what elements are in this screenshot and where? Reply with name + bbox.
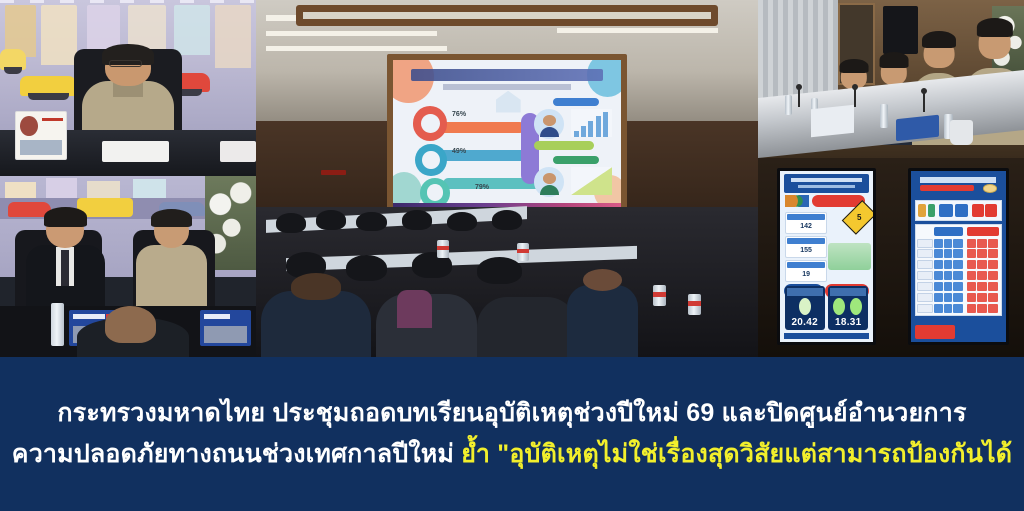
cell-injured [934,239,943,248]
legend-swatch [985,204,997,217]
caption-line-2: ความปลอดภัยทางถนนช่วงเทศกาลปีใหม่ ย้ำ "อ… [0,441,1024,469]
clock-dot-icon [833,298,845,315]
official-hair [839,59,868,73]
cell-injured [934,271,943,280]
audience-head [356,212,386,231]
cell-injured [944,239,953,248]
stat-value-49: 49% [452,148,466,155]
legend-swatch [918,204,926,217]
digital-signage-display [908,168,1009,345]
backdrop-building [174,5,210,54]
caption-line-2-white: ความปลอดภัยทางถนนช่วงเทศกาลปีใหม่ [12,440,454,468]
name-placard [220,141,256,162]
cell-injured [944,271,953,280]
stat-donut-49 [415,144,447,177]
cell-dead [988,282,998,291]
cell-dead [967,304,976,313]
cell-injured [953,239,963,248]
summary-title-block [920,177,997,183]
stats-subtitle-block [798,185,856,188]
cell-dead [967,293,976,302]
summary-table [915,224,1002,316]
audience-shoulders [477,297,577,357]
stat-row-value: 142 [786,220,827,232]
water-bottle [880,104,888,128]
audience-head [447,212,477,231]
audience-head [346,255,386,280]
footer-left-badge [915,325,955,339]
stat-row-accidents: 142 [785,212,828,234]
audience-head [477,257,522,284]
photo-accident-stats-kiosk: 142 155 19 5 [758,158,895,357]
stats-screen: 142 155 19 5 [780,171,873,342]
cell-dead [988,249,998,258]
photo-collage: 76% 49% 79% [0,0,1024,357]
avatar-worker [534,109,564,139]
campaign-standee [15,111,66,160]
presentation-screen: 76% 49% 79% [393,60,622,216]
foreground-person-head [105,306,156,342]
cell-dead [988,239,998,248]
warning-sign-value: 5 [850,204,868,231]
cell-dead [967,249,976,258]
microphone-icon [854,88,856,107]
microphone-icon [923,92,925,113]
water-bottle [517,243,529,261]
name-placard [102,141,169,162]
row-label [917,260,932,269]
stat-row-value: 19 [786,268,827,280]
row-label [917,239,932,248]
time-box-2: 18.31 [828,286,868,330]
backdrop-building [215,5,251,68]
audience-head [316,210,346,229]
row-label [917,249,932,258]
microphone-icon [798,88,800,107]
audience-head [492,210,522,229]
audience-shoulders [261,291,371,357]
ceiling-light [266,46,447,51]
home-icon [496,91,521,113]
official-hair [44,207,88,227]
summary-screen-header [915,174,1002,196]
cell-dead [988,293,998,302]
footer-right-badge [956,325,1001,339]
column-header-dead [967,227,999,236]
summary-legend [915,200,1002,221]
cell-dead [977,271,987,280]
tea-pot [950,120,974,145]
stat-row-dead: 19 [785,260,828,282]
presenter-standing [397,290,432,329]
news-collage-card: 76% 49% 79% [0,0,1024,511]
legend-swatch [939,204,953,217]
emblem-icon [20,116,38,136]
cell-dead [988,260,998,269]
presentation-screen-frame: 76% 49% 79% [387,54,628,222]
mini-chart-bar [571,109,612,137]
cell-dead [988,304,998,313]
row-label [917,304,932,313]
card-title-block [204,314,231,320]
cell-dead [977,239,987,248]
cell-injured [953,260,963,269]
water-bottle [785,95,792,116]
row-label [917,271,932,280]
stat-row-value: 155 [786,244,827,256]
cell-injured [934,260,943,269]
emblem-icon [983,184,997,192]
audience-head [291,273,341,300]
cell-injured [934,249,943,258]
speaker-glasses [109,60,142,67]
stat-value-79: 79% [475,184,489,191]
caption-line-2-highlight: ย้ำ "อุบัติเหตุไม่ใช่เรื่องสุดวิสัยแต่สา… [461,440,1012,468]
stat-value-76: 76% [452,111,466,118]
cell-injured [944,293,953,302]
cell-injured [934,282,943,291]
official-hair [922,31,956,49]
legend-swatch [928,204,936,217]
stats-screen-header [784,174,869,193]
cell-injured [934,293,943,302]
cell-injured [944,249,953,258]
standee-photo [20,140,61,155]
official-hair [879,52,908,67]
photo-press-conference-speaker [0,0,256,176]
slide-subtitle-bar [443,84,571,89]
time-range-label [830,288,866,296]
legend-swatch [972,204,984,217]
row-label [917,282,932,291]
cell-injured [944,282,953,291]
cell-injured [953,271,963,280]
legend-swatch [955,204,969,217]
official-uniform [136,245,208,314]
audience-head [402,210,432,229]
cell-injured [953,282,963,291]
photo-officials-seated [0,176,256,357]
cell-injured [953,249,963,258]
document-folder [896,115,939,142]
cell-dead [967,271,976,280]
stat-donut-76 [413,106,447,140]
road-path-green [534,141,594,150]
cell-dead [977,282,987,291]
photo-fatality-summary-kiosk [895,158,1024,357]
audience-table [286,246,637,272]
time-box-value: 18.31 [828,317,868,328]
avatar-teen [534,167,564,197]
cell-dead [977,260,987,269]
water-bottle [688,294,701,315]
stat-row-injured: 155 [785,236,828,258]
official-hair [151,209,192,227]
water-bottle [51,303,64,346]
cell-injured [944,260,953,269]
row-label [917,293,932,302]
cell-injured [944,304,953,313]
clock-dot-icon [850,298,862,315]
stats-title-block [791,178,863,183]
cell-injured [934,304,943,313]
digital-signage-display: 142 155 19 5 [777,168,876,345]
photo-meeting-table-officials [758,0,1024,158]
card-photo [204,326,247,343]
cell-injured [953,304,963,313]
caption-line-1: กระทรวงมหาดไทย ประชุมถอดบทเรียนอุบัติเหต… [0,400,1024,428]
cell-dead [988,271,998,280]
cell-dead [967,239,976,248]
official-tie [61,250,69,286]
cell-dead [977,249,987,258]
standee-headline [42,118,63,121]
photo-conference-room: 76% 49% 79% [256,0,758,357]
time-box-1: 20.42 [785,286,825,330]
audience-head [276,213,306,232]
card-title-block [73,314,105,320]
group-badge-1 [553,98,599,106]
road-dashes [0,0,256,3]
illustration-scene [828,243,871,270]
agency-icons [785,195,809,207]
name-placard [811,105,854,138]
caption-bar: กระทรวงมหาดไทย ประชุมถอดบทเรียนอุบัติเหต… [0,357,1024,511]
clock-dot-icon [799,298,811,315]
summary-subtitle-block [920,185,974,191]
official-hair [977,18,1013,36]
ceiling-light [557,28,718,33]
decor-blob [393,60,434,104]
time-box-value: 20.42 [785,317,825,328]
column-header-injured [934,227,963,236]
cell-dead [967,260,976,269]
water-bottle [653,285,666,306]
water-bottle [437,240,449,258]
cell-dead [977,293,987,302]
cartoon-car-yellow [20,76,76,97]
stats-screen-footer [784,333,869,340]
audience-area [256,207,758,357]
summary-screen-footer [915,325,1002,339]
ceiling-wood-frame [296,5,718,26]
cartoon-bus [0,49,26,70]
time-range-label [787,288,823,296]
cell-dead [977,304,987,313]
cell-dead [967,282,976,291]
ceiling-light [266,31,437,36]
cell-injured [953,293,963,302]
campaign-card [200,310,251,346]
exit-sign-icon [321,170,346,175]
mini-chart-area [571,167,612,195]
foreground-videographer [567,285,637,357]
backdrop-building [41,5,77,65]
summary-screen [911,171,1006,342]
slide-title-bar [411,69,603,81]
group-badge-2 [553,156,599,164]
